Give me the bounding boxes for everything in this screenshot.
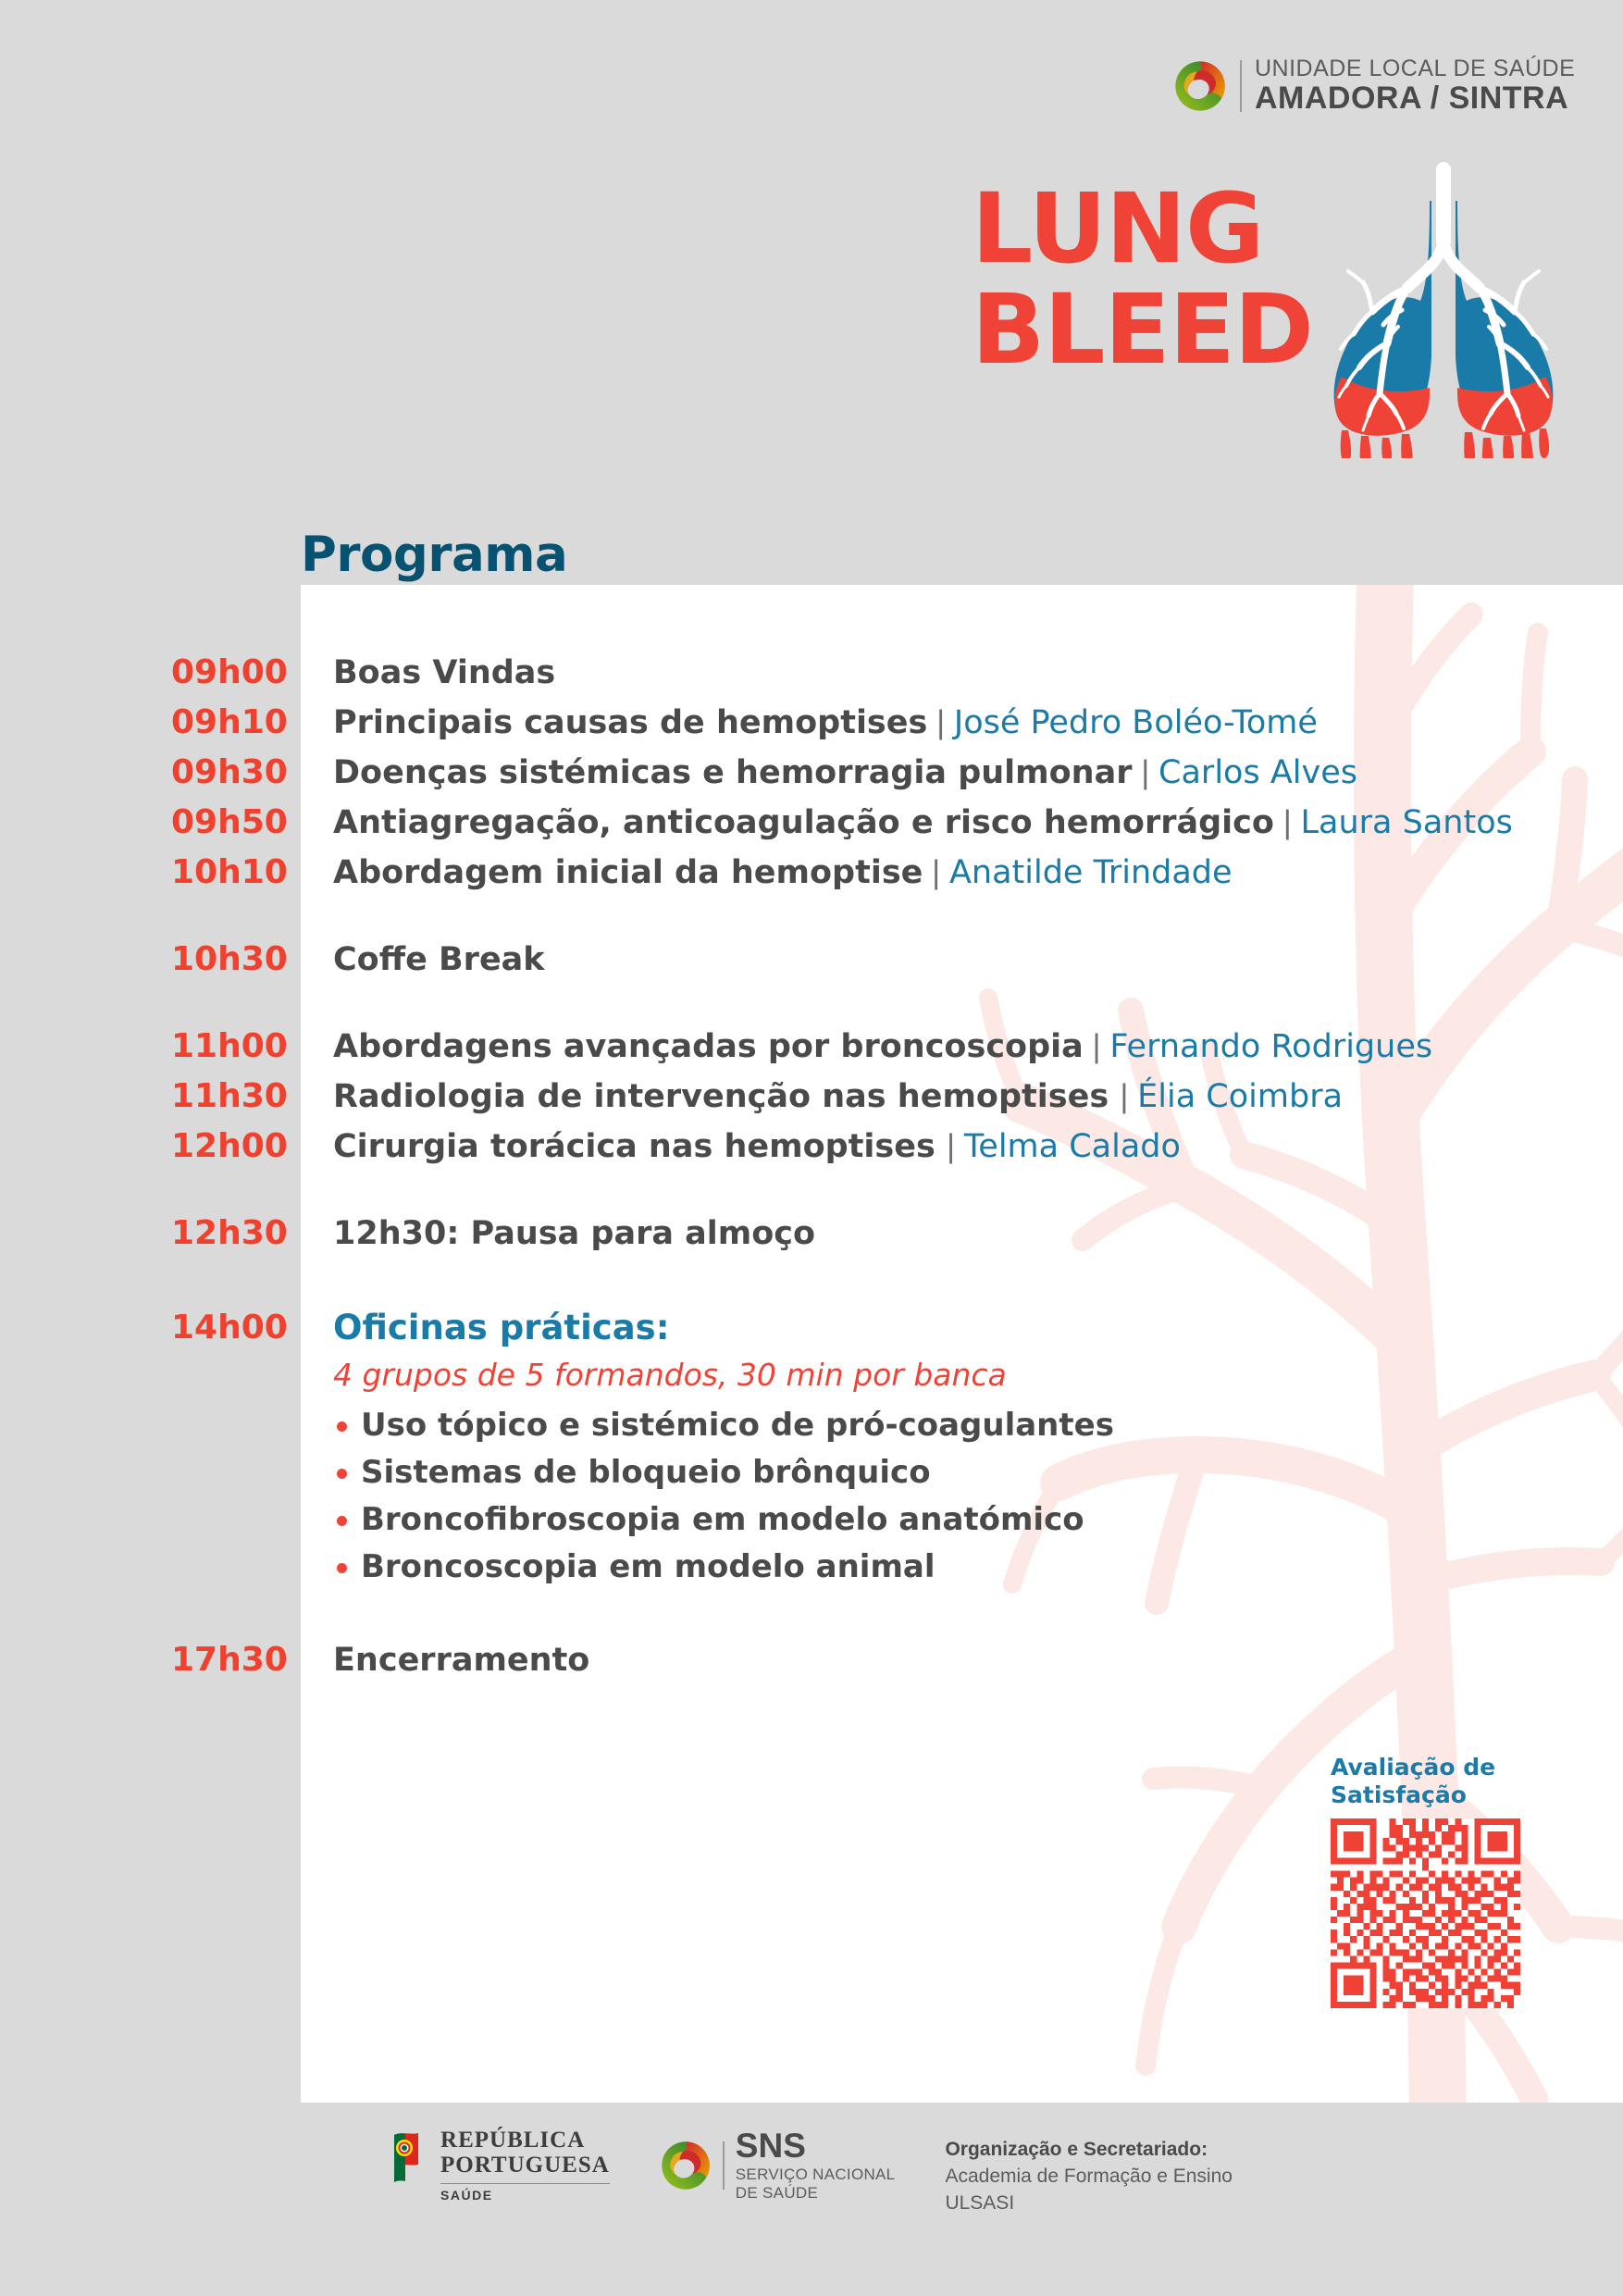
footer: REPÚBLICA PORTUGUESA SAÚDE <box>0 2128 1623 2295</box>
brand-block: LUNG BLEED <box>962 171 1610 467</box>
sns-logo-text: SNS SERVIÇO NACIONAL DE SAÚDE <box>736 2128 896 2203</box>
schedule-row: 09h10 Principais causas de hemoptises | … <box>0 698 1623 748</box>
sns-line3: DE SAÚDE <box>736 2184 896 2203</box>
row-title: Antiagregação, anticoagulação e risco he… <box>333 804 1274 841</box>
republica-line2: PORTUGUESA <box>440 2153 610 2177</box>
sns-ring-icon <box>660 2140 712 2191</box>
row-entry: Doenças sistémicas e hemorragia pulmonar… <box>171 748 1623 798</box>
satisfaction-survey-block[interactable]: Avaliação de Satisfação <box>1331 1754 1534 2008</box>
row-entry: Cirurgia torácica nas hemoptises | Telma… <box>171 1122 1623 1172</box>
row-title: Abordagem inicial da hemoptise <box>333 854 923 891</box>
row-time: 12h30 <box>0 1209 171 1258</box>
row-title: Coffe Break <box>333 941 545 978</box>
row-title: Cirurgia torácica nas hemoptises <box>333 1128 947 1165</box>
page-title: Programa <box>301 527 567 583</box>
schedule-row: 10h10 Abordagem inicial da hemoptise | A… <box>0 848 1623 898</box>
uls-org-line2: AMADORA / SINTRA <box>1255 82 1575 114</box>
schedule-row: 11h00 Abordagens avançadas por broncosco… <box>0 1022 1623 1072</box>
program-schedule: 09h00 Boas Vindas 09h10 Principais causa… <box>0 648 1623 1685</box>
sns-line1: SNS <box>736 2128 896 2163</box>
schedule-row-break: 10h30 Coffe Break <box>0 935 1623 985</box>
brand-wordmark: LUNG BLEED <box>972 179 1313 380</box>
row-entry: Boas Vindas <box>171 648 1623 698</box>
workshops-heading: Oficinas práticas: <box>333 1303 1623 1352</box>
spacer <box>0 1259 1623 1303</box>
row-entry: Encerramento <box>171 1635 1623 1685</box>
poster-root: UNIDADE LOCAL DE SAÚDE AMADORA / SINTRA … <box>0 0 1623 2296</box>
spacer <box>0 898 1623 935</box>
schedule-row: 09h00 Boas Vindas <box>0 648 1623 698</box>
republica-text: REPÚBLICA PORTUGUESA SAÚDE <box>440 2128 610 2202</box>
row-speaker: Fernando Rodrigues <box>1109 1028 1432 1065</box>
row-title: Boas Vindas <box>333 654 555 691</box>
uls-ring-icon <box>1173 59 1227 113</box>
schedule-row-closing: 17h30 Encerramento <box>0 1635 1623 1685</box>
republica-portuguesa-logo: REPÚBLICA PORTUGUESA SAÚDE <box>390 2128 610 2202</box>
org-line1: Organização e Secretariado: <box>945 2136 1233 2163</box>
row-time: 17h30 <box>0 1635 171 1684</box>
row-entry: Radiologia de intervenção nas hemoptises… <box>171 1072 1623 1122</box>
schedule-row: 11h30 Radiologia de intervenção nas hemo… <box>0 1072 1623 1122</box>
qr-caption-line1: Avaliação de <box>1331 1754 1534 1781</box>
republica-rule <box>440 2183 610 2184</box>
row-speaker: Carlos Alves <box>1158 754 1357 791</box>
row-separator: | <box>947 1128 955 1164</box>
row-speaker: Élia Coimbra <box>1137 1078 1343 1115</box>
row-speaker: José Pedro Boléo-Tomé <box>954 704 1318 741</box>
row-title: 12h30: Pausa para almoço <box>333 1215 815 1252</box>
row-entry: Abordagem inicial da hemoptise | Anatild… <box>171 848 1623 898</box>
schedule-row: 09h30 Doenças sistémicas e hemorragia pu… <box>0 748 1623 798</box>
uls-org-line1: UNIDADE LOCAL DE SAÚDE <box>1255 57 1575 81</box>
workshops-list: Uso tópico e sistémico de pró-coagulante… <box>333 1402 1623 1591</box>
row-entry: 12h30: Pausa para almoço <box>171 1209 1623 1259</box>
row-entry: Antiagregação, anticoagulação e risco he… <box>171 798 1623 848</box>
row-separator: | <box>1283 804 1292 840</box>
sns-logo: SNS SERVIÇO NACIONAL DE SAÚDE <box>660 2128 896 2203</box>
row-separator: | <box>1141 754 1149 790</box>
row-time: 09h30 <box>0 748 171 797</box>
organization-credits: Organização e Secretariado: Academia de … <box>945 2136 1233 2216</box>
row-entry: Principais causas de hemoptises | José P… <box>171 698 1623 748</box>
row-title: Principais causas de hemoptises <box>333 704 927 741</box>
qr-caption-line2: Satisfação <box>1331 1781 1534 1809</box>
row-separator: | <box>1093 1028 1101 1064</box>
row-time: 10h30 <box>0 935 171 984</box>
list-item: Broncoscopia em modelo animal <box>333 1544 1623 1591</box>
sns-line2: SERVIÇO NACIONAL <box>736 2166 896 2184</box>
row-speaker: Anatilde Trindade <box>949 854 1233 891</box>
uls-logo-divider <box>1240 60 1242 112</box>
row-title: Doenças sistémicas e hemorragia pulmonar <box>333 754 1132 791</box>
row-time: 10h10 <box>0 848 171 897</box>
row-entry: Oficinas práticas: 4 grupos de 5 formand… <box>171 1303 1623 1591</box>
republica-line1: REPÚBLICA <box>440 2128 610 2152</box>
spacer <box>0 1591 1623 1635</box>
lungs-bleeding-icon <box>1291 162 1596 458</box>
list-item: Uso tópico e sistémico de pró-coagulante… <box>333 1402 1623 1449</box>
row-time: 11h00 <box>0 1022 171 1071</box>
row-time: 09h50 <box>0 798 171 847</box>
row-entry: Abordagens avançadas por broncoscopia | … <box>171 1022 1623 1072</box>
spacer <box>0 1172 1623 1209</box>
row-title: Encerramento <box>333 1642 589 1679</box>
row-time: 12h00 <box>0 1122 171 1171</box>
row-speaker: Laura Santos <box>1301 804 1513 841</box>
uls-logo-text: UNIDADE LOCAL DE SAÚDE AMADORA / SINTRA <box>1255 57 1575 114</box>
row-speaker: Telma Calado <box>964 1128 1181 1165</box>
row-separator: | <box>936 704 945 740</box>
schedule-row-lunch: 12h30 12h30: Pausa para almoço <box>0 1209 1623 1259</box>
row-time: 09h10 <box>0 698 171 747</box>
row-time: 11h30 <box>0 1072 171 1121</box>
qr-code-icon[interactable] <box>1331 1818 1520 2008</box>
spacer <box>0 985 1623 1022</box>
portugal-flag-icon <box>390 2131 427 2183</box>
row-time: 09h00 <box>0 648 171 697</box>
workshops-subtitle: 4 grupos de 5 formandos, 30 min por banc… <box>333 1352 1623 1398</box>
qr-caption: Avaliação de Satisfação <box>1331 1754 1534 1809</box>
row-separator: | <box>1120 1078 1128 1114</box>
schedule-row: 09h50 Antiagregação, anticoagulação e ri… <box>0 798 1623 848</box>
list-item: Sistemas de bloqueio brônquico <box>333 1449 1623 1496</box>
list-item: Broncofibroscopia em modelo anatómico <box>333 1496 1623 1544</box>
uls-header-logo: UNIDADE LOCAL DE SAÚDE AMADORA / SINTRA <box>1173 57 1575 114</box>
row-separator: | <box>932 854 940 890</box>
row-entry: Coffe Break <box>171 935 1623 985</box>
brand-word-bleed: BLEED <box>972 279 1313 380</box>
schedule-row: 12h00 Cirurgia torácica nas hemoptises |… <box>0 1122 1623 1172</box>
schedule-row-workshops: 14h00 Oficinas práticas: 4 grupos de 5 f… <box>0 1303 1623 1591</box>
row-title: Radiologia de intervenção nas hemoptises <box>333 1078 1120 1115</box>
brand-word-lung: LUNG <box>972 179 1313 279</box>
row-time: 14h00 <box>0 1303 171 1352</box>
org-line3: ULSASI <box>945 2190 1233 2216</box>
republica-line3: SAÚDE <box>440 2189 610 2202</box>
sns-logo-divider <box>723 2141 725 2190</box>
row-title: Abordagens avançadas por broncoscopia <box>333 1028 1084 1065</box>
org-line2: Academia de Formação e Ensino <box>945 2163 1233 2190</box>
